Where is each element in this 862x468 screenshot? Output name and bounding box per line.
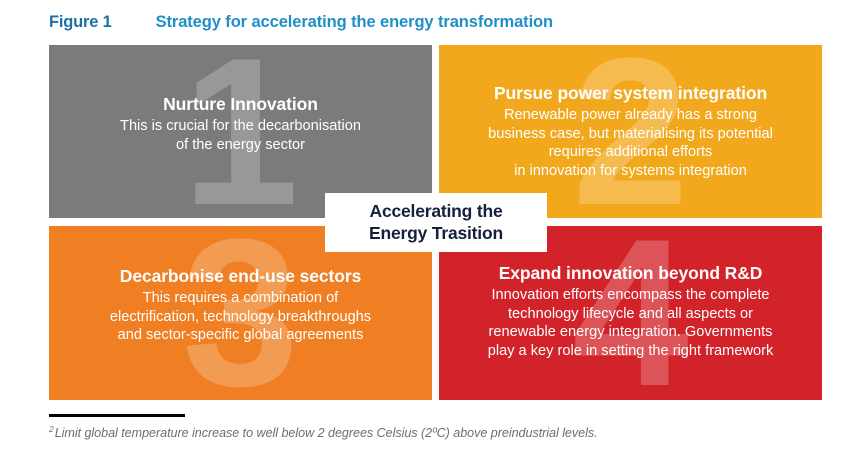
quadrant-expand-innovation-beyond-rd: 4 Expand innovation beyond R&D Innovatio… [439,226,822,400]
quadrant-text-3-line-3: and sector-specific global agreements [118,326,364,345]
quadrant-text-1-line-1: This is crucial for the decarbonisation [120,117,361,136]
quadrant-decarbonise-end-use-sectors: 3 Decarbonise end-use sectors This requi… [49,226,432,400]
quadrant-text-2-line-4: in innovation for systems integration [514,162,747,181]
footnote-separator-rule [49,414,185,417]
center-callout-line-1: Accelerating the [370,201,503,222]
quadrant-text-2-line-2: business case, but materialising its pot… [488,125,773,144]
quadrant-content-3: Decarbonise end-use sectors This require… [49,226,432,400]
quadrant-text-3-line-1: This requires a combination of [143,289,339,308]
figure-title: Strategy for accelerating the energy tra… [156,13,553,32]
quadrant-text-4-line-3: renewable energy integration. Government… [489,323,773,342]
figure-header: Figure 1 Strategy for accelerating the e… [49,8,822,36]
quadrant-heading-1: Nurture Innovation [163,94,318,115]
center-callout-line-2: Energy Trasition [369,223,503,244]
center-callout-box: Accelerating the Energy Trasition [325,193,547,252]
quadrant-text-3-line-2: electrification, technology breakthrough… [110,308,371,327]
quadrant-heading-4: Expand innovation beyond R&D [499,263,763,284]
quadrant-content-4: Expand innovation beyond R&D Innovation … [439,226,822,400]
quadrant-heading-2: Pursue power system integration [494,83,767,104]
figure-number-label: Figure 1 [49,13,112,32]
quadrant-text-4-line-1: Innovation efforts encompass the complet… [492,286,770,305]
footnote-marker: 2 [49,424,54,434]
footnote-text: Limit global temperature increase to wel… [55,426,598,440]
quadrant-text-1-line-2: of the energy sector [176,136,305,155]
quadrant-heading-3: Decarbonise end-use sectors [120,266,361,287]
quadrant-text-4-line-2: technology lifecycle and all aspects or [508,305,753,324]
quadrant-text-2-line-3: requires additional efforts [549,143,713,162]
quadrant-text-4-line-4: play a key role in setting the right fra… [488,342,774,361]
quadrant-text-2-line-1: Renewable power already has a strong [504,106,757,125]
footnote: 2Limit global temperature increase to we… [49,424,829,440]
